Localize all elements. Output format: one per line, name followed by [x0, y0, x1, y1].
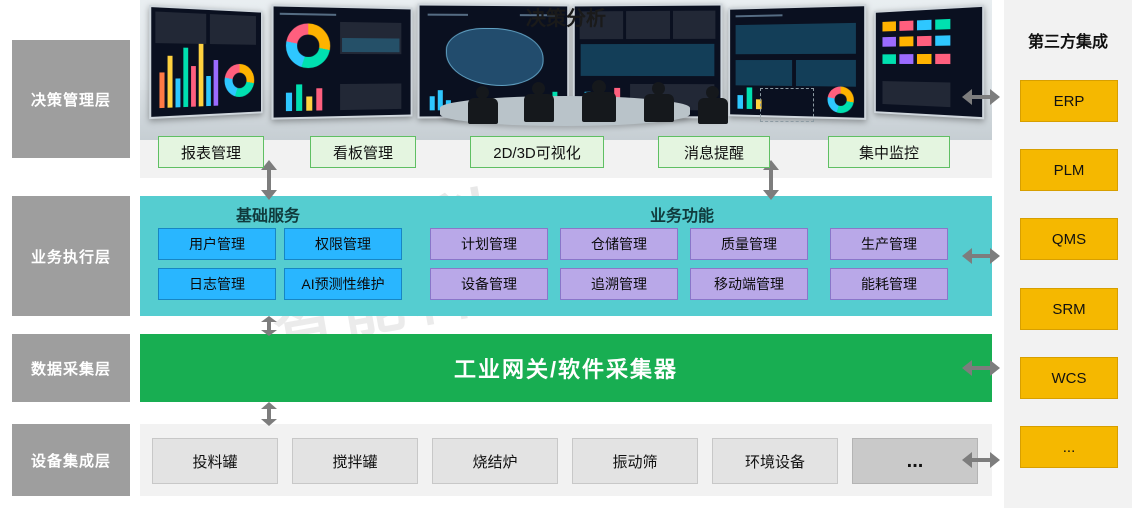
person-body	[698, 98, 728, 124]
arrow-device-to-third-party	[962, 451, 1000, 469]
chip-user-management[interactable]: 用户管理	[158, 228, 276, 260]
dashed-placeholder	[760, 88, 814, 122]
device-more[interactable]: ...	[852, 438, 978, 484]
third-party-more[interactable]: ...	[1020, 426, 1118, 468]
third-party-srm[interactable]: SRM	[1020, 288, 1118, 330]
person-body	[524, 94, 554, 122]
device-vibrating-screen[interactable]: 振动筛	[572, 438, 698, 484]
capability-kanban-management[interactable]: 看板管理	[310, 136, 416, 168]
decision-capability-row: 报表管理 看板管理 2D/3D可视化 消息提醒 集中监控	[140, 136, 992, 178]
chip-warehouse-management[interactable]: 仓储管理	[560, 228, 678, 260]
device-layer-panel: 投料罐 搅拌罐 烧结炉 振动筛 环境设备 ...	[140, 424, 992, 496]
architecture-diagram: 决策管理层 业务执行层 数据采集层 设备集成层 能谷中科 智能科技	[0, 0, 1144, 508]
layer-decision-management: 决策管理层	[12, 40, 130, 158]
arrow-business-to-collection	[260, 316, 278, 336]
third-party-wcs[interactable]: WCS	[1020, 357, 1118, 399]
arrow-collection-to-third-party	[962, 359, 1000, 377]
chip-mobile-management[interactable]: 移动端管理	[690, 268, 808, 300]
business-layer-panel: 基础服务 业务功能 用户管理 权限管理 日志管理 AI预测性维护 计划管理 仓储…	[140, 196, 992, 316]
device-sintering-furnace[interactable]: 烧结炉	[432, 438, 558, 484]
layer-data-collection: 数据采集层	[12, 334, 130, 402]
center-panel: 能谷中科 智能科技	[140, 0, 992, 508]
person-body	[582, 92, 616, 122]
person-body	[468, 98, 498, 124]
layer-label-column: 决策管理层 业务执行层 数据采集层 设备集成层	[12, 0, 130, 508]
chip-quality-management[interactable]: 质量管理	[690, 228, 808, 260]
chip-plan-management[interactable]: 计划管理	[430, 228, 548, 260]
device-environment-equipment[interactable]: 环境设备	[712, 438, 838, 484]
capability-message-alert[interactable]: 消息提醒	[658, 136, 770, 168]
capability-central-monitoring[interactable]: 集中监控	[828, 136, 950, 168]
device-feed-tank[interactable]: 投料罐	[152, 438, 278, 484]
capability-2d3d-visualization[interactable]: 2D/3D可视化	[470, 136, 604, 168]
capability-report-management[interactable]: 报表管理	[158, 136, 264, 168]
third-party-column: 第三方集成 ERP PLM QMS SRM WCS ...	[1004, 0, 1132, 508]
third-party-title: 第三方集成	[1004, 28, 1132, 52]
third-party-erp[interactable]: ERP	[1020, 80, 1118, 122]
third-party-qms[interactable]: QMS	[1020, 218, 1118, 260]
layer-device-integration: 设备集成层	[12, 424, 130, 496]
chip-equipment-management[interactable]: 设备管理	[430, 268, 548, 300]
device-mixing-tank[interactable]: 搅拌罐	[292, 438, 418, 484]
basic-services-title: 基础服务	[236, 202, 300, 226]
industrial-gateway-bar: 工业网关/软件采集器	[140, 334, 992, 402]
third-party-plm[interactable]: PLM	[1020, 149, 1118, 191]
chip-ai-predictive-maintenance[interactable]: AI预测性维护	[284, 268, 402, 300]
chip-log-management[interactable]: 日志管理	[158, 268, 276, 300]
arrow-business-to-third-party	[962, 247, 1000, 265]
person-body	[644, 94, 674, 122]
chip-traceability-management[interactable]: 追溯管理	[560, 268, 678, 300]
arrow-collection-to-device	[260, 402, 278, 426]
business-functions-title: 业务功能	[650, 202, 714, 226]
layer-business-execution: 业务执行层	[12, 196, 130, 316]
chip-production-management[interactable]: 生产管理	[830, 228, 948, 260]
decision-analysis-title: 决策分析	[140, 2, 992, 31]
chip-permission-management[interactable]: 权限管理	[284, 228, 402, 260]
chip-energy-management[interactable]: 能耗管理	[830, 268, 948, 300]
arrow-decision-to-third-party	[962, 88, 1000, 106]
